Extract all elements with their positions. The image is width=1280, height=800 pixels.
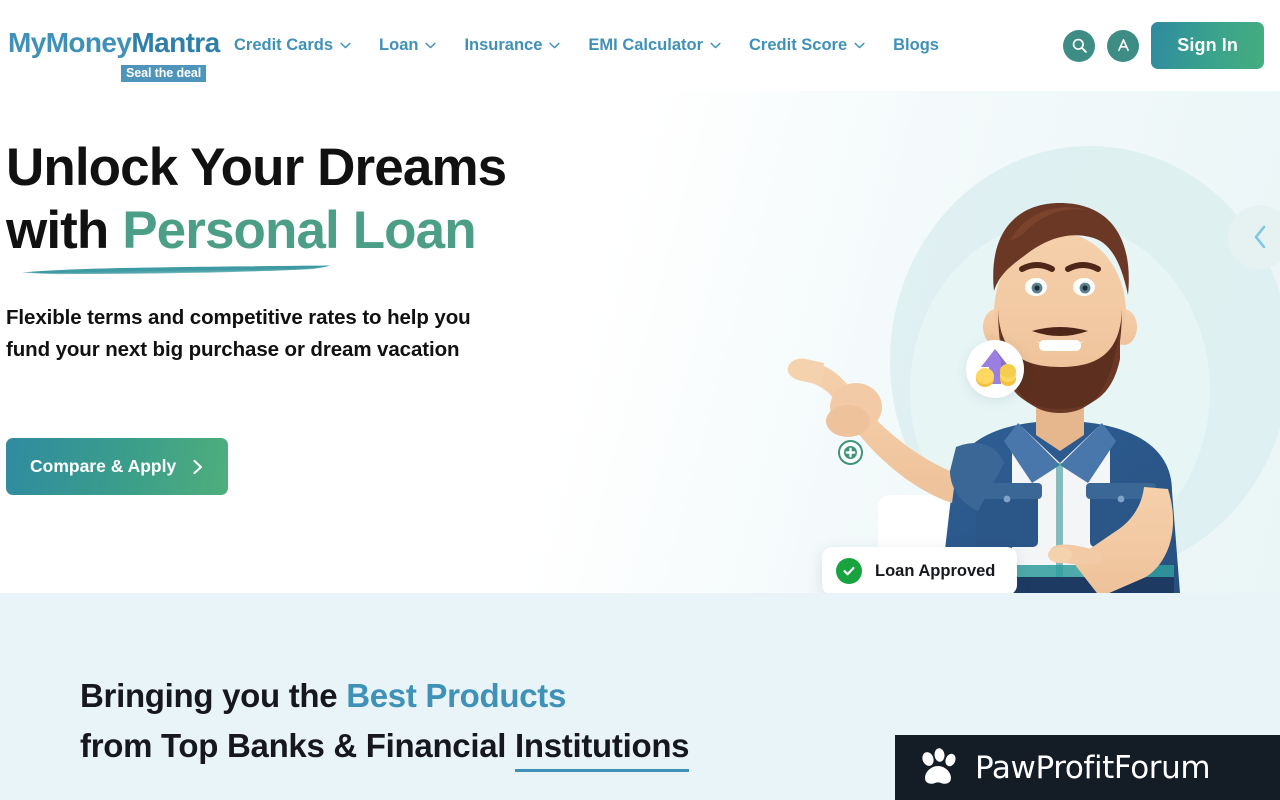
products-heading-accent: Best Products (346, 677, 566, 714)
products-heading-line-1-plain: Bringing you the (80, 677, 346, 714)
hero-copy: Unlock Your Dreams with Personal Loan Fl… (6, 136, 646, 495)
chevron-down-icon (340, 42, 351, 49)
cta-label: Compare & Apply (30, 456, 176, 477)
nav-label: Credit Cards (234, 36, 333, 55)
hero-subtitle: Flexible terms and competitive rates to … (6, 302, 586, 366)
site-header: MyMoneyMantra Seal the deal Credit Cards… (0, 0, 1280, 91)
products-heading-line-2-plain: from Top Banks & Financial (80, 727, 515, 764)
products-heading-underlined: Institutions (515, 727, 689, 772)
header-actions: Sign In (1063, 22, 1264, 69)
hero-title-line-1: Unlock Your Dreams (6, 138, 506, 197)
logo-tagline: Seal the deal (121, 65, 206, 82)
app-store-icon (1115, 37, 1132, 54)
nav-label: Credit Score (749, 36, 847, 55)
nav-item-emi-calculator[interactable]: EMI Calculator (574, 30, 735, 61)
brush-underline-icon (20, 264, 332, 277)
hero-title-line-2-accent: Personal Loan (122, 201, 476, 260)
hero-title-line-2-plain: with (6, 201, 122, 260)
logo-part-two: Mantra (131, 27, 219, 58)
main-navigation: Credit Cards Loan Insurance EMI Calculat… (220, 30, 1063, 61)
hero-carousel-slide: Loan Approved Unlock Your Dreams with Pe… (0, 91, 1280, 593)
nav-label: Insurance (464, 36, 542, 55)
plus-badge-icon (838, 440, 863, 465)
nav-item-credit-score[interactable]: Credit Score (735, 30, 879, 61)
paw-print-icon (917, 748, 959, 788)
chevron-left-icon (1249, 222, 1271, 252)
nav-label: Blogs (893, 36, 939, 55)
chevron-right-icon (192, 459, 204, 475)
watermark-label: PawProfitForum (975, 750, 1210, 786)
watermark-banner: PawProfitForum (895, 735, 1280, 800)
nav-item-blogs[interactable]: Blogs (879, 30, 953, 61)
nav-label: Loan (379, 36, 418, 55)
logo-wordmark: MyMoneyMantra (8, 29, 220, 57)
search-icon (1071, 37, 1088, 54)
loan-approved-badge: Loan Approved (822, 547, 1017, 593)
nav-item-insurance[interactable]: Insurance (450, 30, 574, 61)
hero-subtitle-line-2: fund your next big purchase or dream vac… (6, 338, 459, 361)
arrow-up-coins-icon (966, 340, 1024, 398)
chevron-down-icon (854, 42, 865, 49)
nav-label: EMI Calculator (588, 36, 703, 55)
chevron-down-icon (425, 42, 436, 49)
hero-title: Unlock Your Dreams with Personal Loan (6, 136, 646, 262)
chevron-down-icon (710, 42, 721, 49)
logo-part-one: MyMoney (8, 27, 131, 58)
search-button[interactable] (1063, 30, 1095, 62)
plus-icon (844, 446, 857, 459)
check-circle-icon (836, 558, 862, 584)
site-logo[interactable]: MyMoneyMantra Seal the deal (6, 20, 206, 72)
compare-and-apply-button[interactable]: Compare & Apply (6, 438, 228, 495)
chevron-down-icon (549, 42, 560, 49)
app-store-button[interactable] (1107, 30, 1139, 62)
sign-in-button[interactable]: Sign In (1151, 22, 1264, 69)
growth-coins-badge (966, 340, 1024, 398)
loan-approved-label: Loan Approved (875, 562, 995, 581)
nav-item-loan[interactable]: Loan (365, 30, 450, 61)
hero-subtitle-line-1: Flexible terms and competitive rates to … (6, 306, 471, 329)
nav-item-credit-cards[interactable]: Credit Cards (220, 30, 365, 61)
check-icon (842, 564, 856, 578)
